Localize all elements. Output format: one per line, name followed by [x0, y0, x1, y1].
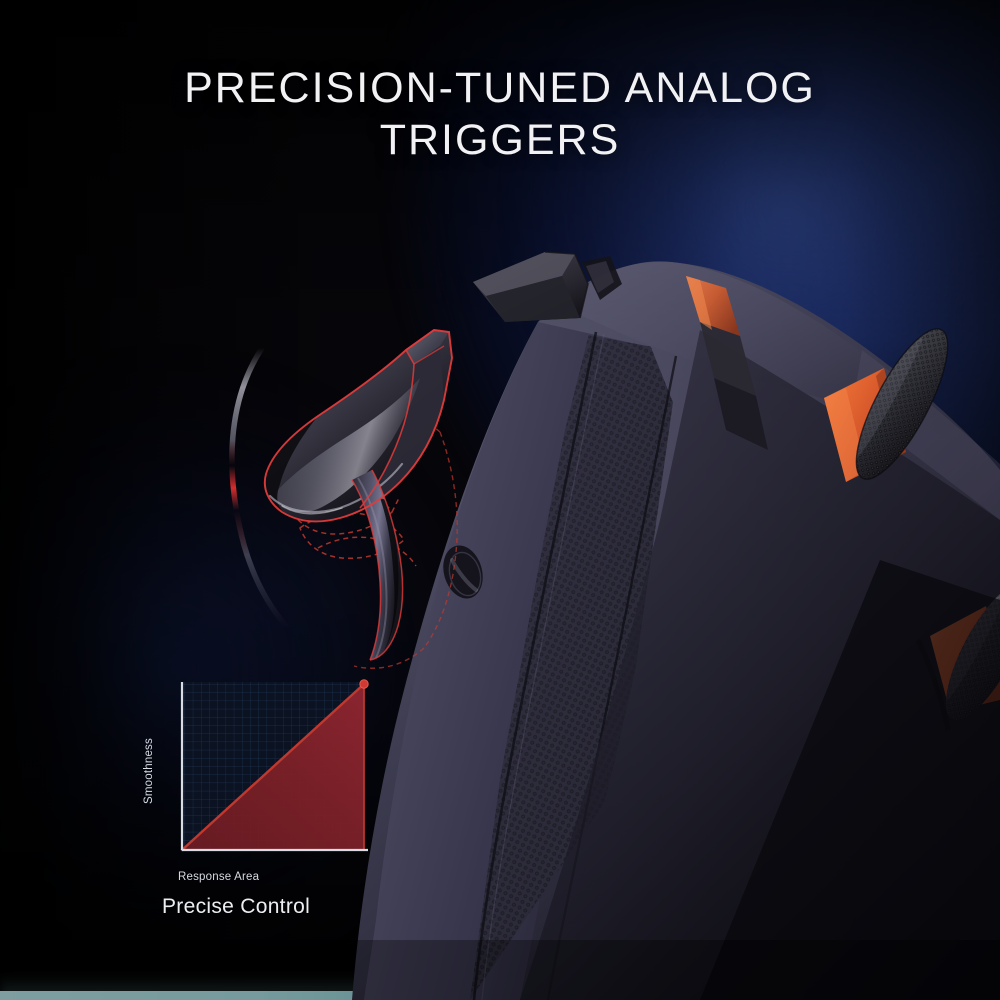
chart-x-axis-label: Response Area [178, 871, 398, 883]
chart-y-axis-label: Smoothness [138, 676, 160, 866]
chart-plot-area [160, 676, 382, 866]
chart-plot-row: Smoothness [138, 676, 398, 866]
headline-line-1: PRECISION-TUNED ANALOG [0, 62, 1000, 114]
chart-caption: Precise Control [162, 895, 398, 919]
headline-line-2: TRIGGERS [0, 114, 1000, 166]
headline: PRECISION-TUNED ANALOG TRIGGERS [0, 62, 1000, 166]
precise-control-chart: Smoothness [138, 676, 398, 919]
chart-endpoint-marker [360, 680, 368, 688]
product-marketing-image: PRECISION-TUNED ANALOG TRIGGERS [0, 0, 1000, 1000]
